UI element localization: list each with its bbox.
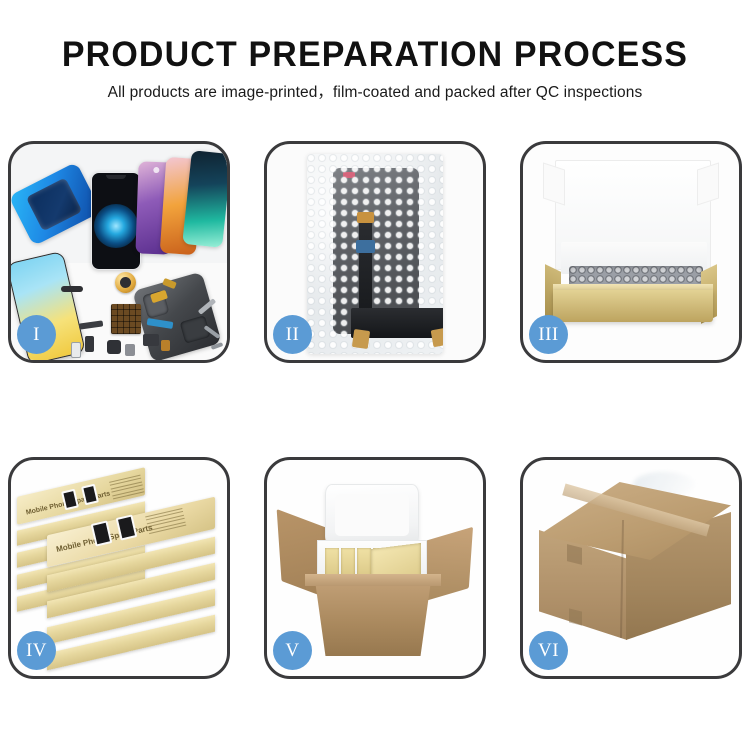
gold-coil-part-icon (115, 272, 136, 293)
foam-box-lid-icon (325, 484, 419, 546)
spare-part-icon (161, 340, 170, 351)
connector-board-icon (351, 308, 443, 338)
box-lid-left-icon (543, 162, 565, 205)
chip-grid-part-icon (111, 304, 141, 334)
step-badge-4: IV (17, 631, 56, 670)
page-title: PRODUCT PREPARATION PROCESS (11, 34, 739, 76)
spare-part-icon (71, 342, 81, 358)
blue-adhesive-film-icon (11, 162, 102, 246)
spare-part-icon (107, 340, 121, 354)
carton-handle-cut-icon (569, 608, 582, 625)
spare-part-icon (61, 286, 83, 292)
step-badge-3: III (529, 315, 568, 354)
step-badge-2: II (273, 315, 312, 354)
spare-part-icon (85, 336, 94, 352)
process-step-panel-5: V (264, 457, 486, 679)
step-badge-6: VI (529, 631, 568, 670)
carton-handle-cut-icon (567, 544, 582, 565)
black-phone-screen-icon (91, 172, 141, 270)
spare-part-icon (143, 334, 159, 346)
process-step-panel-4: Mobile Phone Spare Parts Mobile Phone Sp… (8, 457, 230, 679)
phone-notch-icon (106, 175, 126, 179)
screen-burst-graphic (94, 204, 138, 248)
process-step-grid: I II (8, 141, 742, 679)
bubble-wrap-bag-icon (307, 154, 443, 354)
page-subtitle: All products are image-printed，film-coat… (0, 83, 750, 103)
header: PRODUCT PREPARATION PROCESS All products… (0, 34, 750, 103)
box-lid-right-icon (697, 162, 719, 205)
carton-top-edge-icon (305, 574, 441, 586)
product-preparation-infographic: PRODUCT PREPARATION PROCESS All products… (0, 0, 750, 750)
carton-body-icon (307, 580, 439, 656)
process-step-panel-3: III (520, 141, 742, 363)
gold-box-front-icon (553, 290, 713, 322)
process-step-panel-6: VI (520, 457, 742, 679)
spare-part-icon (125, 344, 135, 356)
step-badge-1: I (17, 315, 56, 354)
process-step-panel-1: I (8, 141, 230, 363)
process-step-panel-2: II (264, 141, 486, 363)
step-badge-5: V (273, 631, 312, 670)
red-sticker-icon (343, 172, 355, 178)
